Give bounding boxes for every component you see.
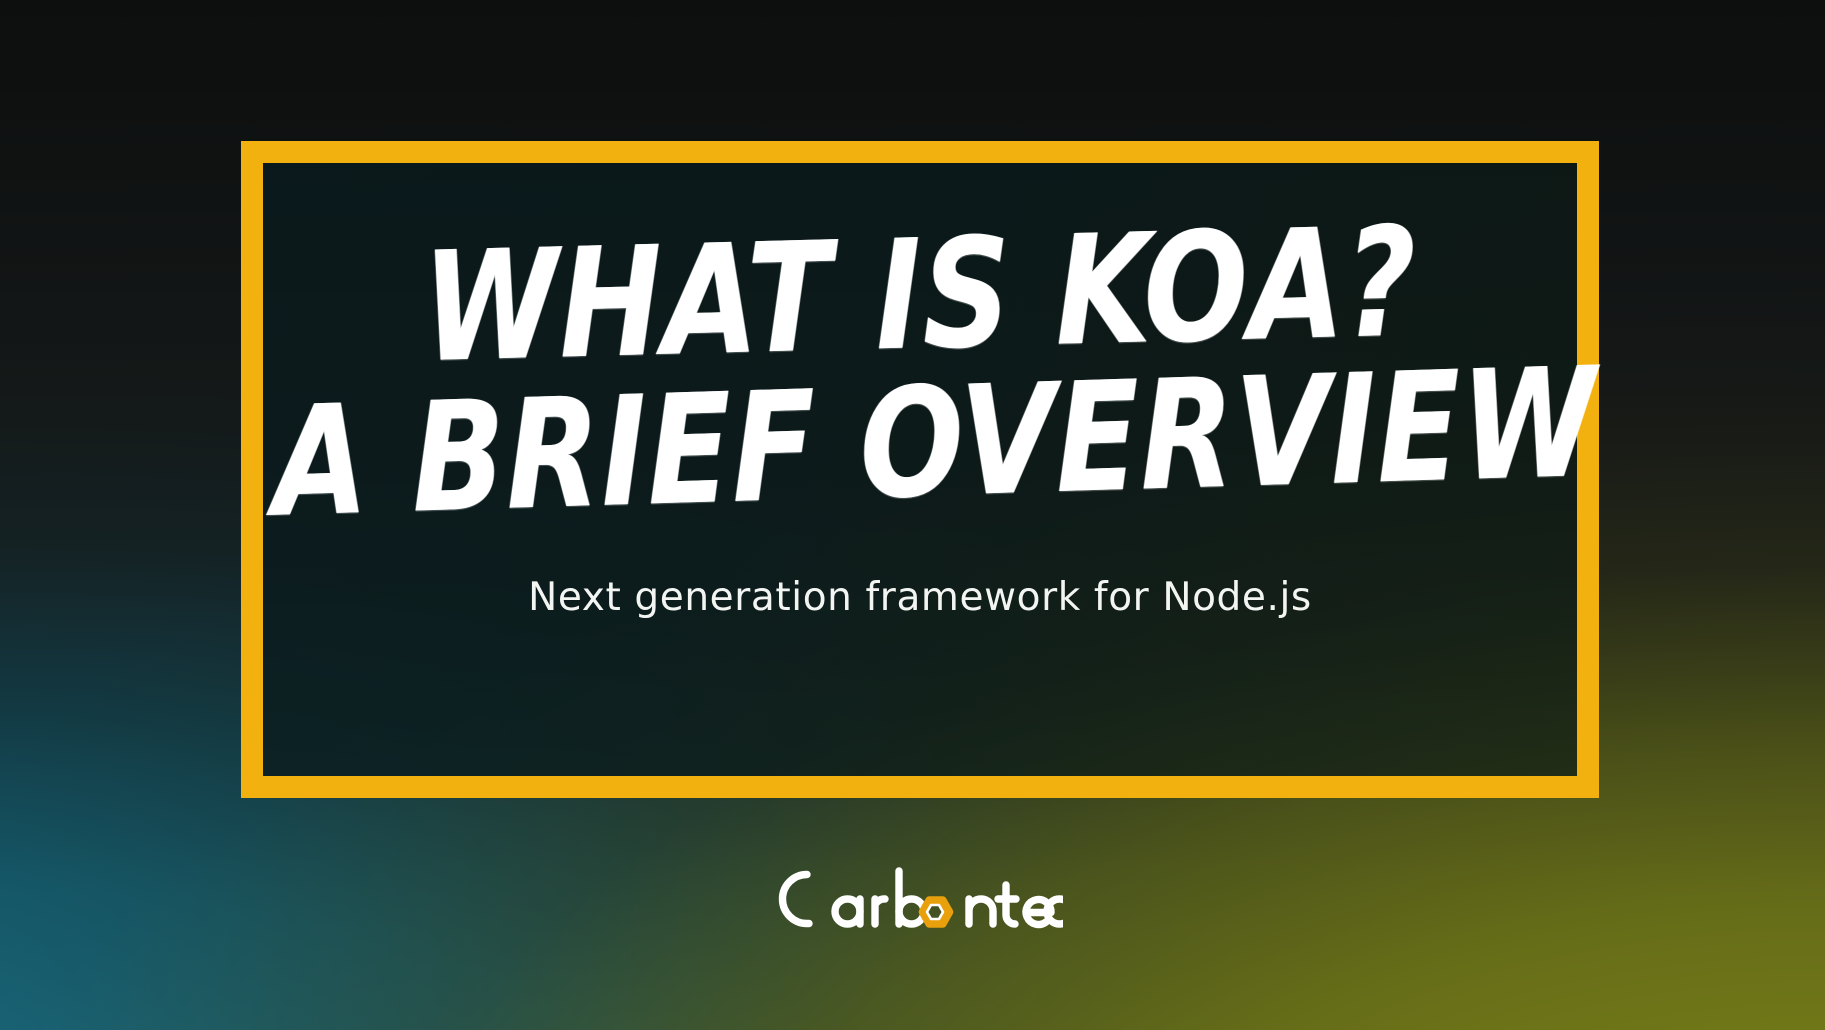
hexagon-icon	[923, 901, 949, 924]
slide-title: WHAT IS KOA? A BRIEF OVERVIEW	[263, 239, 1577, 501]
title-frame-inner-panel: WHAT IS KOA? A BRIEF OVERVIEW Next gener…	[263, 163, 1577, 776]
carbonteq-logo	[0, 855, 1825, 941]
carbonteq-logo-svg	[763, 855, 1063, 941]
slide-title-line-2: A BRIEF OVERVIEW	[272, 355, 1569, 533]
title-frame: WHAT IS KOA? A BRIEF OVERVIEW Next gener…	[241, 141, 1599, 798]
presentation-slide: WHAT IS KOA? A BRIEF OVERVIEW Next gener…	[0, 0, 1825, 1030]
slide-subtitle: Next generation framework for Node.js	[263, 575, 1577, 620]
